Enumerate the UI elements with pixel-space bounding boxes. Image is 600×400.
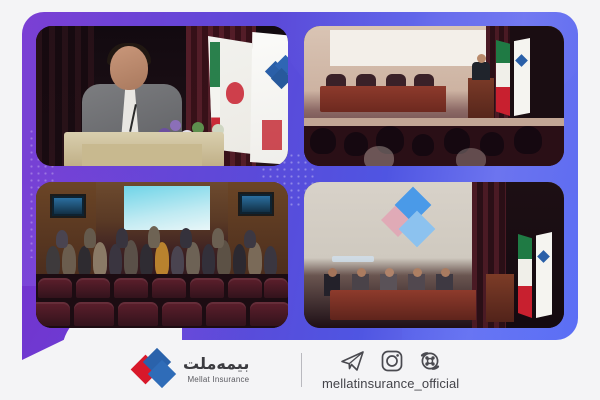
mellat-flag <box>250 32 288 166</box>
projection-screen <box>330 30 486 66</box>
social-block: mellatinsurance_official <box>322 349 459 391</box>
speaker-figure <box>472 54 490 80</box>
photo-speaker-at-podium <box>36 26 288 166</box>
mellat-flag <box>514 38 530 116</box>
social-handle: mellatinsurance_official <box>322 376 459 391</box>
instagram-icon[interactable] <box>380 349 404 373</box>
brand-name-en: Mellat Insurance <box>187 376 249 384</box>
aparat-icon[interactable] <box>418 349 442 373</box>
brand-name-fa: بیمه‌ملت <box>183 357 249 373</box>
projection-screen <box>124 186 210 230</box>
wall-monitor-right <box>238 192 274 216</box>
audience <box>304 126 564 166</box>
podium <box>468 78 494 120</box>
mellat-flag <box>536 232 552 318</box>
projected-mellat-logo-icon <box>382 192 444 254</box>
group-of-attendees <box>42 226 282 278</box>
wall-monitor-left <box>50 194 86 218</box>
iran-flag <box>496 40 510 116</box>
photo-group-photo-auditorium <box>36 182 288 328</box>
telegram-icon[interactable] <box>340 349 366 373</box>
auditorium-seats <box>36 274 288 328</box>
photo-grid <box>36 26 564 328</box>
poster-canvas: بیمه‌ملت Mellat Insurance <box>0 0 600 400</box>
mellat-diamond-logo-icon <box>135 350 177 390</box>
iran-flag <box>518 234 532 318</box>
footer-divider <box>301 353 302 387</box>
podium <box>486 274 514 322</box>
footer: بیمه‌ملت Mellat Insurance <box>0 340 600 400</box>
brand-lockup: بیمه‌ملت Mellat Insurance <box>135 350 285 390</box>
photo-panel-discussion-table <box>304 182 564 328</box>
photo-stage-panel-and-audience <box>304 26 564 166</box>
